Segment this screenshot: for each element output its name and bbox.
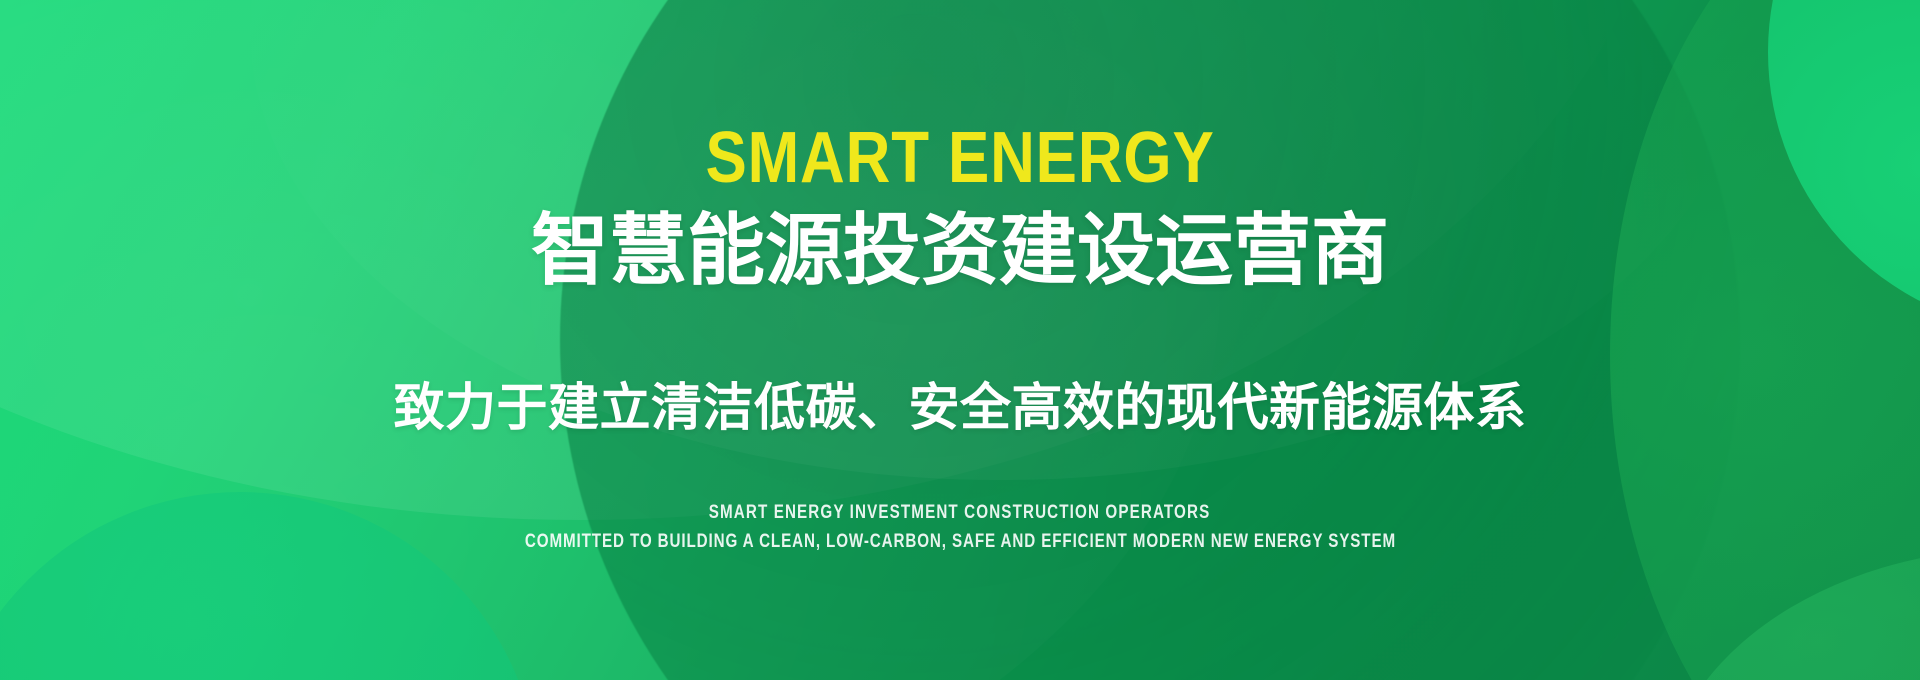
banner-tagline-line-1: SMART ENERGY INVESTMENT CONSTRUCTION OPE… <box>709 501 1211 525</box>
banner-content: SMART ENERGY 智慧能源投资建设运营商 致力于建立清洁低碳、安全高效的… <box>0 0 1920 680</box>
smart-energy-hero-banner: SMART ENERGY 智慧能源投资建设运营商 致力于建立清洁低碳、安全高效的… <box>0 0 1920 680</box>
banner-title-english: SMART ENERGY <box>705 122 1214 194</box>
banner-subtitle-chinese: 致力于建立清洁低碳、安全高效的现代新能源体系 <box>393 380 1526 436</box>
banner-english-taglines: SMART ENERGY INVESTMENT CONSTRUCTION OPE… <box>416 501 1505 554</box>
banner-title-chinese: 智慧能源投资建设运营商 <box>531 208 1389 292</box>
banner-tagline-line-2: COMMITTED TO BUILDING A CLEAN, LOW-CARBO… <box>524 530 1395 554</box>
